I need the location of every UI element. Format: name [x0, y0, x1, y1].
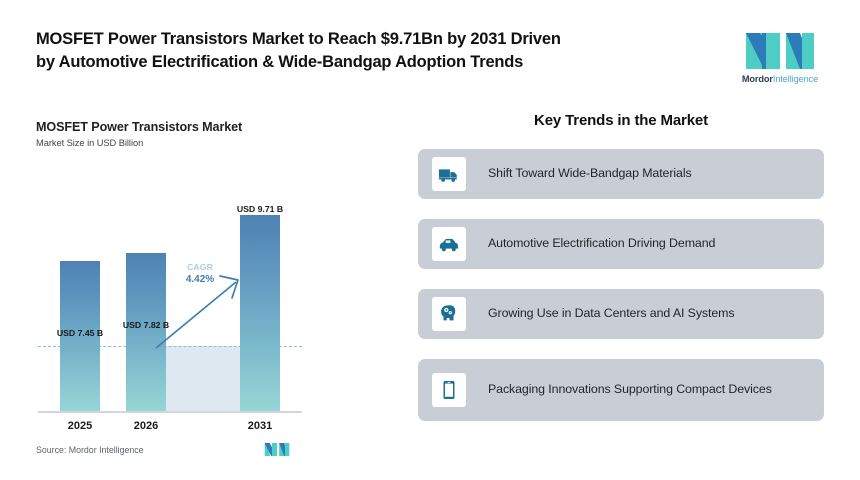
cagr-growth-arrow-icon — [154, 270, 246, 352]
brand-wordmark: MordorIntelligence — [728, 74, 832, 84]
ai-head-icon — [438, 303, 460, 325]
chart-title: MOSFET Power Transistors Market — [36, 120, 326, 134]
chart-axis-line — [38, 411, 302, 413]
trend-card-4[interactable]: Packaging Innovations Supporting Compact… — [418, 359, 824, 421]
page-header: MOSFET Power Transistors Market to Reach… — [0, 0, 860, 100]
car-icon — [438, 233, 460, 255]
trend-label-4: Packaging Innovations Supporting Compact… — [488, 381, 772, 398]
key-trends-panel: Key Trends in the Market Shift Toward Wi… — [418, 112, 824, 441]
trend-icon-box-4 — [432, 373, 466, 407]
chart-bar-2031 — [240, 215, 280, 411]
brand-wordmark-light: Intelligence — [773, 74, 818, 84]
key-trends-heading: Key Trends in the Market — [418, 112, 824, 129]
page-title-line-2: by Automotive Electrification & Wide-Ban… — [36, 51, 561, 74]
chart-footer: Source: Mordor Intelligence — [36, 442, 326, 457]
chart-source-text: Source: Mordor Intelligence — [36, 445, 144, 455]
trend-card-3[interactable]: Growing Use in Data Centers and AI Syste… — [418, 289, 824, 339]
chart-subtitle: Market Size in USD Billion — [36, 138, 326, 148]
chart-value-label-2025: USD 7.45 B — [42, 328, 118, 338]
trend-icon-box-3 — [432, 297, 466, 331]
market-size-chart: MOSFET Power Transistors Market Market S… — [36, 120, 326, 450]
trend-icon-box-2 — [432, 227, 466, 261]
chart-xtick-2031: 2031 — [226, 420, 294, 432]
trend-label-2: Automotive Electrification Driving Deman… — [488, 235, 715, 252]
brand-logo: MordorIntelligence — [728, 28, 832, 84]
chart-xtick-2026: 2026 — [112, 420, 180, 432]
truck-icon — [438, 163, 460, 185]
chart-value-label-2031: USD 9.71 B — [222, 204, 298, 214]
brand-wordmark-bold: Mordor — [742, 74, 773, 84]
page-title-line-1: MOSFET Power Transistors Market to Reach… — [36, 28, 561, 51]
page-title: MOSFET Power Transistors Market to Reach… — [36, 28, 561, 75]
smartphone-icon — [438, 379, 460, 401]
chart-plot-area: USD 7.45 B USD 7.82 B USD 9.71 B CAGR 4.… — [36, 198, 326, 413]
mordor-intelligence-logo-mark-small — [264, 442, 290, 457]
trend-label-3: Growing Use in Data Centers and AI Syste… — [488, 305, 734, 322]
chart-xtick-2025: 2025 — [46, 420, 114, 432]
mordor-intelligence-logo-mark — [744, 31, 816, 71]
trend-card-2[interactable]: Automotive Electrification Driving Deman… — [418, 219, 824, 269]
trend-label-1: Shift Toward Wide-Bandgap Materials — [488, 165, 692, 182]
trend-card-1[interactable]: Shift Toward Wide-Bandgap Materials — [418, 149, 824, 199]
trend-icon-box-1 — [432, 157, 466, 191]
